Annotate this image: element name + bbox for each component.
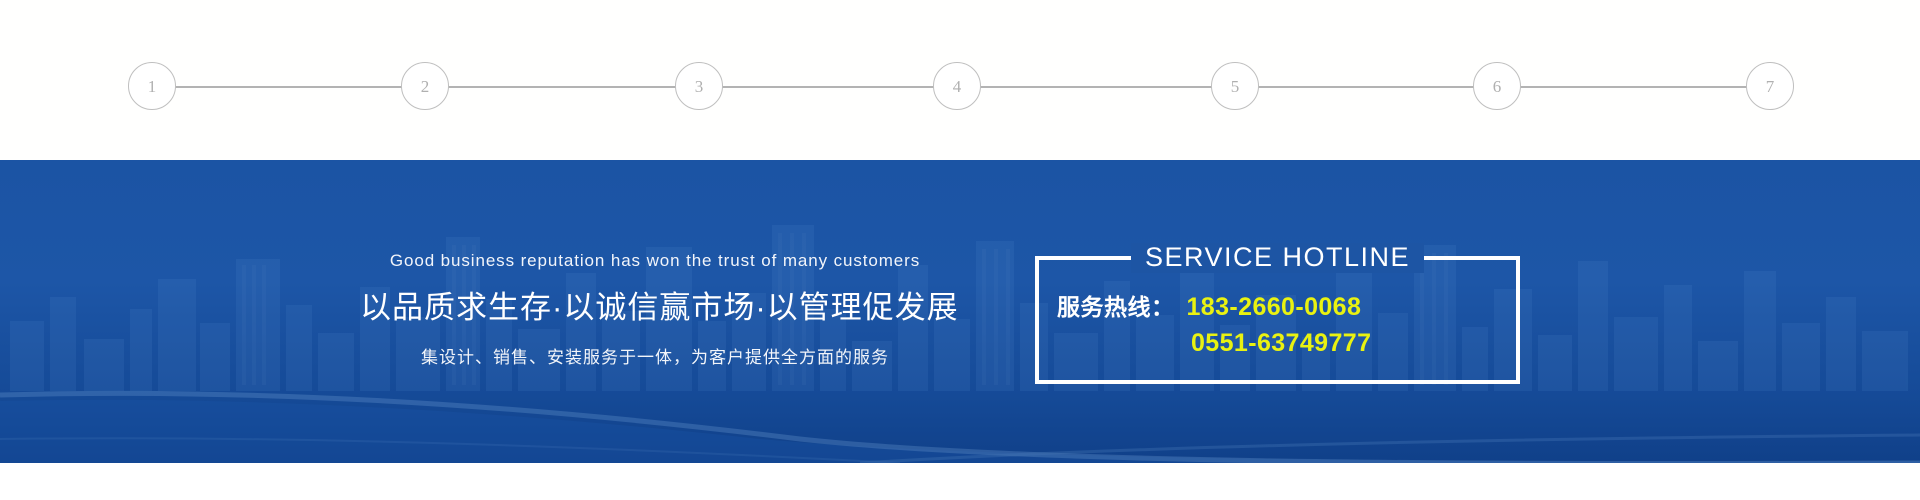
step-node-4[interactable]: 4: [933, 62, 981, 110]
step-number-label: 2: [421, 78, 430, 95]
hotline-row-primary: 服务热线： 183-2660-0068: [1057, 288, 1498, 322]
step-number-label: 4: [953, 78, 962, 95]
promo-banner: Good business reputation has won the tru…: [0, 160, 1920, 463]
step-node-5[interactable]: 5: [1211, 62, 1259, 110]
service-hotline-box: SERVICE HOTLINE 服务热线： 183-2660-0068 0551…: [1035, 256, 1520, 384]
slogan-english: Good business reputation has won the tru…: [360, 250, 950, 272]
slogan-chinese-sub: 集设计、销售、安装服务于一体，为客户提供全方面的服务: [360, 347, 950, 369]
step-number-label: 6: [1493, 78, 1502, 95]
step-node-3[interactable]: 3: [675, 62, 723, 110]
highway-road-image: [0, 343, 1920, 463]
step-number-label: 5: [1231, 78, 1240, 95]
bottom-white-strip: [0, 463, 1920, 500]
hotline-row-secondary: 0551-63749777: [1057, 329, 1498, 358]
step-node-1[interactable]: 1: [128, 62, 176, 110]
slogan-block: Good business reputation has won the tru…: [360, 250, 950, 369]
step-number-label: 7: [1766, 78, 1775, 95]
hotline-label: 服务热线：: [1057, 288, 1175, 322]
slogan-chinese-main: 以品质求生存·以诚信赢市场·以管理促发展: [360, 289, 950, 328]
hotline-number-secondary[interactable]: 0551-63749777: [1191, 329, 1371, 358]
step-node-6[interactable]: 6: [1473, 62, 1521, 110]
page-root: 1 2 3 4 5 6 7: [0, 0, 1920, 500]
step-number-label: 1: [148, 78, 157, 95]
step-number-label: 3: [695, 78, 704, 95]
step-node-2[interactable]: 2: [401, 62, 449, 110]
step-node-7[interactable]: 7: [1746, 62, 1794, 110]
hotline-number-primary[interactable]: 183-2660-0068: [1187, 293, 1362, 322]
hotline-rows: 服务热线： 183-2660-0068 0551-63749777: [1039, 288, 1516, 358]
step-progress-bar: 1 2 3 4 5 6 7: [0, 0, 1920, 160]
